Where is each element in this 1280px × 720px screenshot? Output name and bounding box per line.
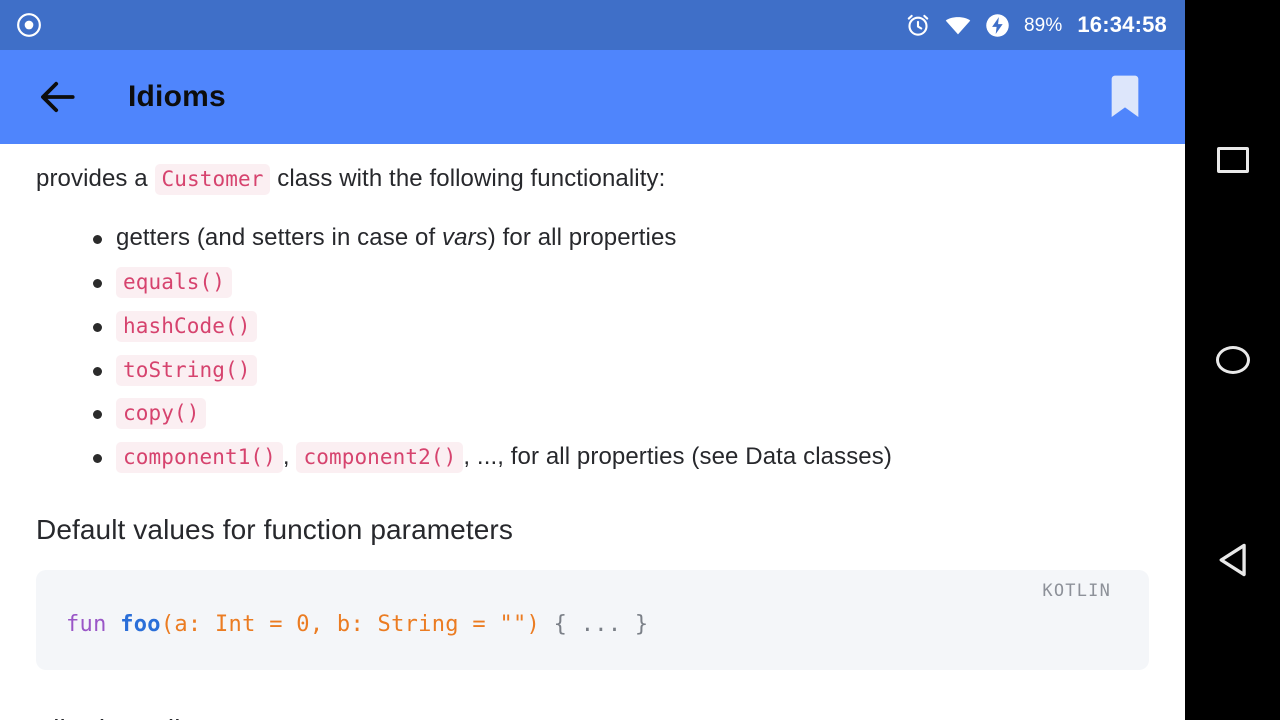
component-separator: , (283, 443, 297, 470)
intro-paragraph: provides a Customer class with the follo… (36, 144, 1149, 197)
intro-after: class with the following functionality: (277, 165, 665, 192)
bookmark-button[interactable] (1095, 67, 1155, 127)
wifi-icon (943, 11, 973, 39)
circle-home-icon (1216, 346, 1250, 374)
bookmark-icon (1105, 73, 1145, 121)
code-token-body: { ... } (540, 612, 648, 637)
alarm-clock-icon (904, 11, 932, 39)
code-line: fun foo(a: Int = 0, b: String = "") { ..… (66, 612, 1149, 637)
inline-code-component2: component2() (296, 442, 463, 473)
code-language-label: KOTLIN (1042, 581, 1111, 601)
list-item: hashCode() (36, 307, 1149, 345)
battery-charging-icon (984, 12, 1011, 39)
inline-code-customer: Customer (155, 164, 271, 195)
code-token-function: foo (120, 612, 161, 637)
list-item: copy() (36, 394, 1149, 432)
screen-root: 89% 16:34:58 Idioms provides a Customer … (0, 0, 1280, 720)
list-item: getters (and setters in case of vars) fo… (36, 219, 1149, 257)
inline-code-tostring: toString() (116, 355, 257, 386)
intro-before: provides a (36, 165, 148, 192)
triangle-back-icon (1216, 542, 1250, 578)
bullet-getters-post: ) for all properties (488, 224, 677, 251)
inline-code-hashcode: hashCode() (116, 311, 257, 342)
component-post-text: , ..., for all properties (see Data clas… (463, 443, 892, 470)
nav-back-button[interactable] (1185, 520, 1280, 600)
phone-viewport: 89% 16:34:58 Idioms provides a Customer … (0, 0, 1185, 720)
inline-code-equals: equals() (116, 267, 232, 298)
app-bar: Idioms (0, 50, 1185, 144)
section-heading-filtering: Filtering a list (36, 714, 1149, 720)
status-bar-clock: 16:34:58 (1077, 14, 1167, 36)
status-bar-right: 89% 16:34:58 (904, 11, 1167, 39)
list-item: component1(), component2(), ..., for all… (36, 438, 1149, 476)
document-content: provides a Customer class with the follo… (0, 144, 1185, 720)
inline-code-copy: copy() (116, 398, 206, 429)
android-navigation-bar (1185, 0, 1280, 720)
code-block: KOTLIN fun foo(a: Int = 0, b: String = "… (36, 570, 1149, 670)
bullet-getters-pre: getters (and setters in case of (116, 224, 442, 251)
arrow-left-icon[interactable] (36, 75, 80, 119)
inline-code-component1: component1() (116, 442, 283, 473)
bullet-getters-italic: vars (442, 224, 488, 251)
record-circle-icon (16, 12, 42, 38)
code-token-params: (a: Int = 0, b: String = "") (161, 612, 540, 637)
status-bar: 89% 16:34:58 (0, 0, 1185, 50)
functionality-list: getters (and setters in case of vars) fo… (36, 219, 1149, 476)
code-token-keyword: fun (66, 612, 120, 637)
battery-percent-label: 89% (1024, 16, 1062, 35)
section-heading-default-values: Default values for function parameters (36, 514, 1149, 546)
square-recents-icon (1217, 147, 1249, 173)
list-item: equals() (36, 263, 1149, 301)
nav-home-button[interactable] (1185, 320, 1280, 400)
status-bar-left (16, 12, 42, 38)
list-item: toString() (36, 351, 1149, 389)
nav-recents-button[interactable] (1185, 120, 1280, 200)
page-title: Idioms (128, 80, 226, 114)
